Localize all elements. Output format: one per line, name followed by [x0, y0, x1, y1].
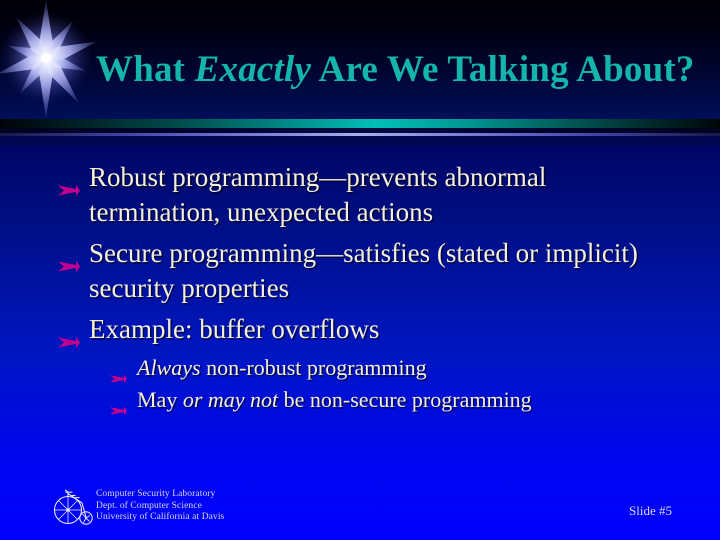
- text-run: What: [96, 49, 195, 90]
- text-run: Example: buffer overflows: [89, 314, 379, 344]
- bullet-item: Secure programming—satisfies (stated or …: [56, 236, 672, 306]
- arrow-bullet-icon: [110, 394, 127, 404]
- bullet-text: Secure programming—satisfies (stated or …: [89, 238, 638, 303]
- text-run: Robust programming—prevents abnormal ter…: [89, 162, 546, 227]
- footer-organization-text: Computer Security LaboratoryDept. of Com…: [96, 489, 224, 524]
- presentation-slide: What Exactly Are We Talking About? Robus…: [0, 0, 720, 540]
- sub-bullet-item: Always non-robust programming: [104, 353, 672, 383]
- text-run: non-robust programming: [201, 355, 427, 380]
- bullet-text: Example: buffer overflows: [89, 314, 379, 344]
- bullet-text: Always non-robust programming: [137, 355, 427, 380]
- emphasis-text: Always: [137, 355, 201, 380]
- emphasis-text: Exactly: [195, 49, 311, 90]
- footer-text-line: University of California at Davis: [96, 512, 224, 524]
- text-run: Secure programming—satisfies (stated or …: [89, 238, 638, 303]
- slide-title: What Exactly Are We Talking About?: [96, 47, 696, 92]
- bullet-text: Robust programming—prevents abnormal ter…: [89, 162, 546, 227]
- bullet-item: Example: buffer overflows: [56, 312, 672, 347]
- emphasis-text: or may not: [183, 387, 278, 412]
- slide-body-bullet-list: Robust programming—prevents abnormal ter…: [56, 160, 672, 417]
- sub-bullet-item: May or may not be non-secure programming: [104, 385, 672, 415]
- text-run: May: [137, 387, 183, 412]
- bullet-item: Robust programming—prevents abnormal ter…: [56, 160, 672, 230]
- text-run: be non-secure programming: [278, 387, 532, 412]
- footer-text-line: Computer Security Laboratory: [96, 489, 224, 501]
- text-run: Are We Talking About?: [311, 49, 694, 90]
- footer-text-line: Dept. of Computer Science: [96, 501, 224, 513]
- bullet-text: May or may not be non-secure programming: [137, 387, 532, 412]
- arrow-bullet-icon: [110, 362, 127, 372]
- header-underfill: [0, 136, 720, 146]
- arrow-bullet-icon: [58, 247, 80, 260]
- title-divider-teal-bar: [0, 119, 720, 128]
- arrow-bullet-icon: [58, 323, 80, 336]
- penny-farthing-bicycle-icon: [52, 483, 94, 529]
- slide-number: Slide #5: [629, 503, 672, 519]
- arrow-bullet-icon: [58, 171, 80, 184]
